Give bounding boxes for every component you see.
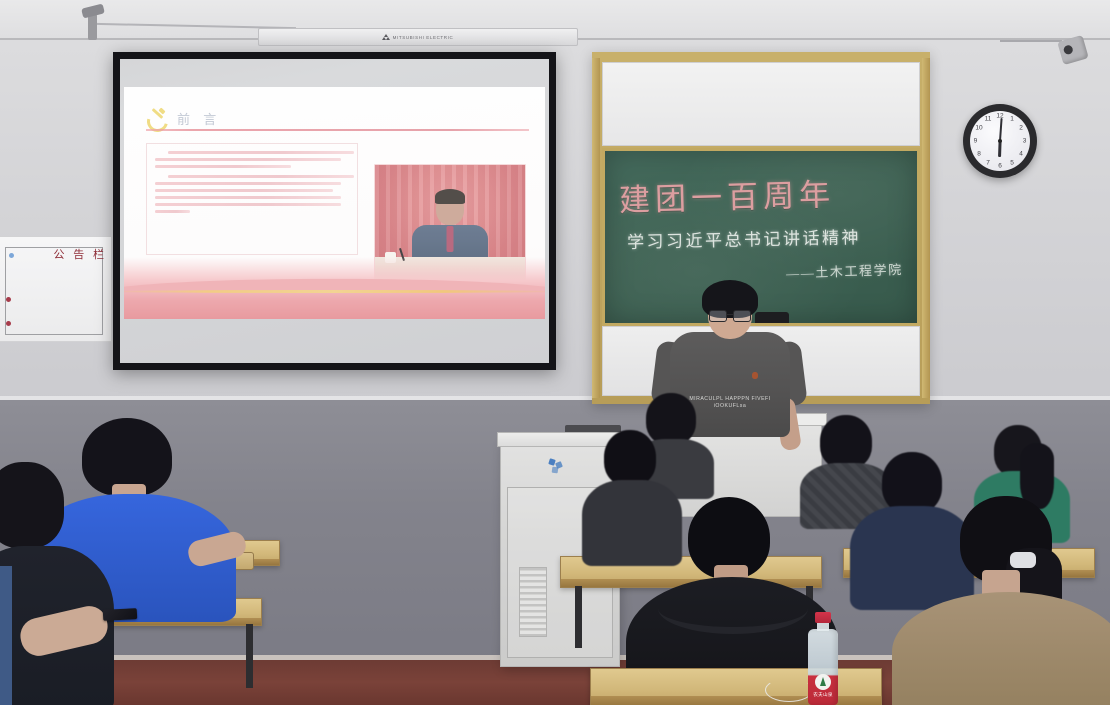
notice-board: 公 告 栏 <box>0 236 112 342</box>
chalkboard-headline: 建团一百周年 <box>618 167 907 220</box>
slide-footer-decoration <box>124 257 545 319</box>
lectern-ventilation-grille <box>519 567 547 637</box>
camera-arm <box>1000 40 1062 42</box>
slide-title-rule <box>146 129 529 131</box>
slide-text-line <box>155 210 190 213</box>
projection-screen: 前 言 <box>113 52 556 370</box>
clock-numeral: 6 <box>998 162 1002 169</box>
slide-text-line <box>155 189 333 192</box>
chalkboard-signature: ——土木工程学院 <box>786 259 903 282</box>
clock-center-pin <box>998 139 1002 143</box>
board-post-right <box>922 58 930 398</box>
photo-speaker-hair <box>435 189 465 204</box>
party-hammer-sickle-emblem-icon <box>146 109 168 128</box>
presentation-slide: 前 言 <box>124 87 545 319</box>
screen-surface: 前 言 <box>120 59 549 363</box>
clock-minute-hand <box>999 118 1002 141</box>
projector-brand-text: MITSUBISHI ELECTRIC <box>393 35 454 40</box>
desk-leg <box>246 624 253 688</box>
clock-face: 12 1 2 3 4 5 6 7 8 9 10 11 <box>970 111 1030 171</box>
denim-overall-strap <box>0 566 12 705</box>
notice-board-title: 公 告 栏 <box>54 246 108 262</box>
clock-numeral: 9 <box>974 138 978 145</box>
blue-magnet <box>9 253 14 258</box>
clock-numeral: 11 <box>985 116 992 123</box>
clock-numeral: 7 <box>986 159 990 166</box>
wall-clock: 12 1 2 3 4 5 6 7 8 9 10 11 <box>963 104 1037 178</box>
mitsubishi-logo-icon <box>383 34 390 40</box>
clock-numeral: 8 <box>977 150 981 157</box>
hair-tie <box>1010 552 1036 568</box>
projector-screen-housing: MITSUBISHI ELECTRIC <box>258 28 578 46</box>
clock-hour-hand <box>998 141 1001 157</box>
slide-text-line <box>155 203 341 206</box>
clock-numeral: 4 <box>1019 150 1023 157</box>
lectern-brand-logo-icon <box>549 459 565 473</box>
eyeglasses-icon <box>708 310 752 320</box>
projector-mount-icon <box>88 14 97 40</box>
photo-speaker-tie <box>447 226 454 252</box>
desk-leg <box>575 586 582 648</box>
clock-numeral: 2 <box>1019 125 1023 132</box>
nongfu-spring-logo-icon <box>815 674 831 690</box>
red-magnet <box>6 297 11 302</box>
slide-title: 前 言 <box>177 109 221 128</box>
slide-text-line <box>155 165 291 168</box>
slide-text-line <box>155 158 341 161</box>
smartphone-on-desk[interactable] <box>103 608 138 621</box>
slide-text-line <box>155 196 341 199</box>
classroom-scene: 公 告 栏 MITSUBISHI ELECTRIC 前 言 <box>0 0 1110 705</box>
bottle-cap <box>815 612 831 623</box>
slide-text-line <box>155 182 341 185</box>
bottle-neck <box>817 622 829 631</box>
bottle-brand-label: 农夫山泉 <box>806 692 840 698</box>
slide-text-line <box>168 151 354 154</box>
projector-brand-label: MITSUBISHI ELECTRIC <box>383 34 454 40</box>
whiteboard-panel-top <box>602 62 920 146</box>
student-overalls <box>0 462 118 705</box>
presenter-shirt-logo <box>752 372 758 379</box>
student-tan-ponytail <box>906 496 1110 705</box>
slide-text-line <box>168 175 354 178</box>
clock-numeral: 10 <box>975 125 982 132</box>
hoodie-hood <box>658 583 808 634</box>
water-bottle[interactable]: 农夫山泉 <box>806 612 840 705</box>
slide-body-textbox <box>146 143 358 255</box>
clock-numeral: 3 <box>1023 138 1027 145</box>
red-magnet <box>6 321 11 326</box>
clock-numeral: 5 <box>1010 159 1014 166</box>
clock-numeral: 1 <box>1010 116 1014 123</box>
board-post-left <box>592 58 600 398</box>
